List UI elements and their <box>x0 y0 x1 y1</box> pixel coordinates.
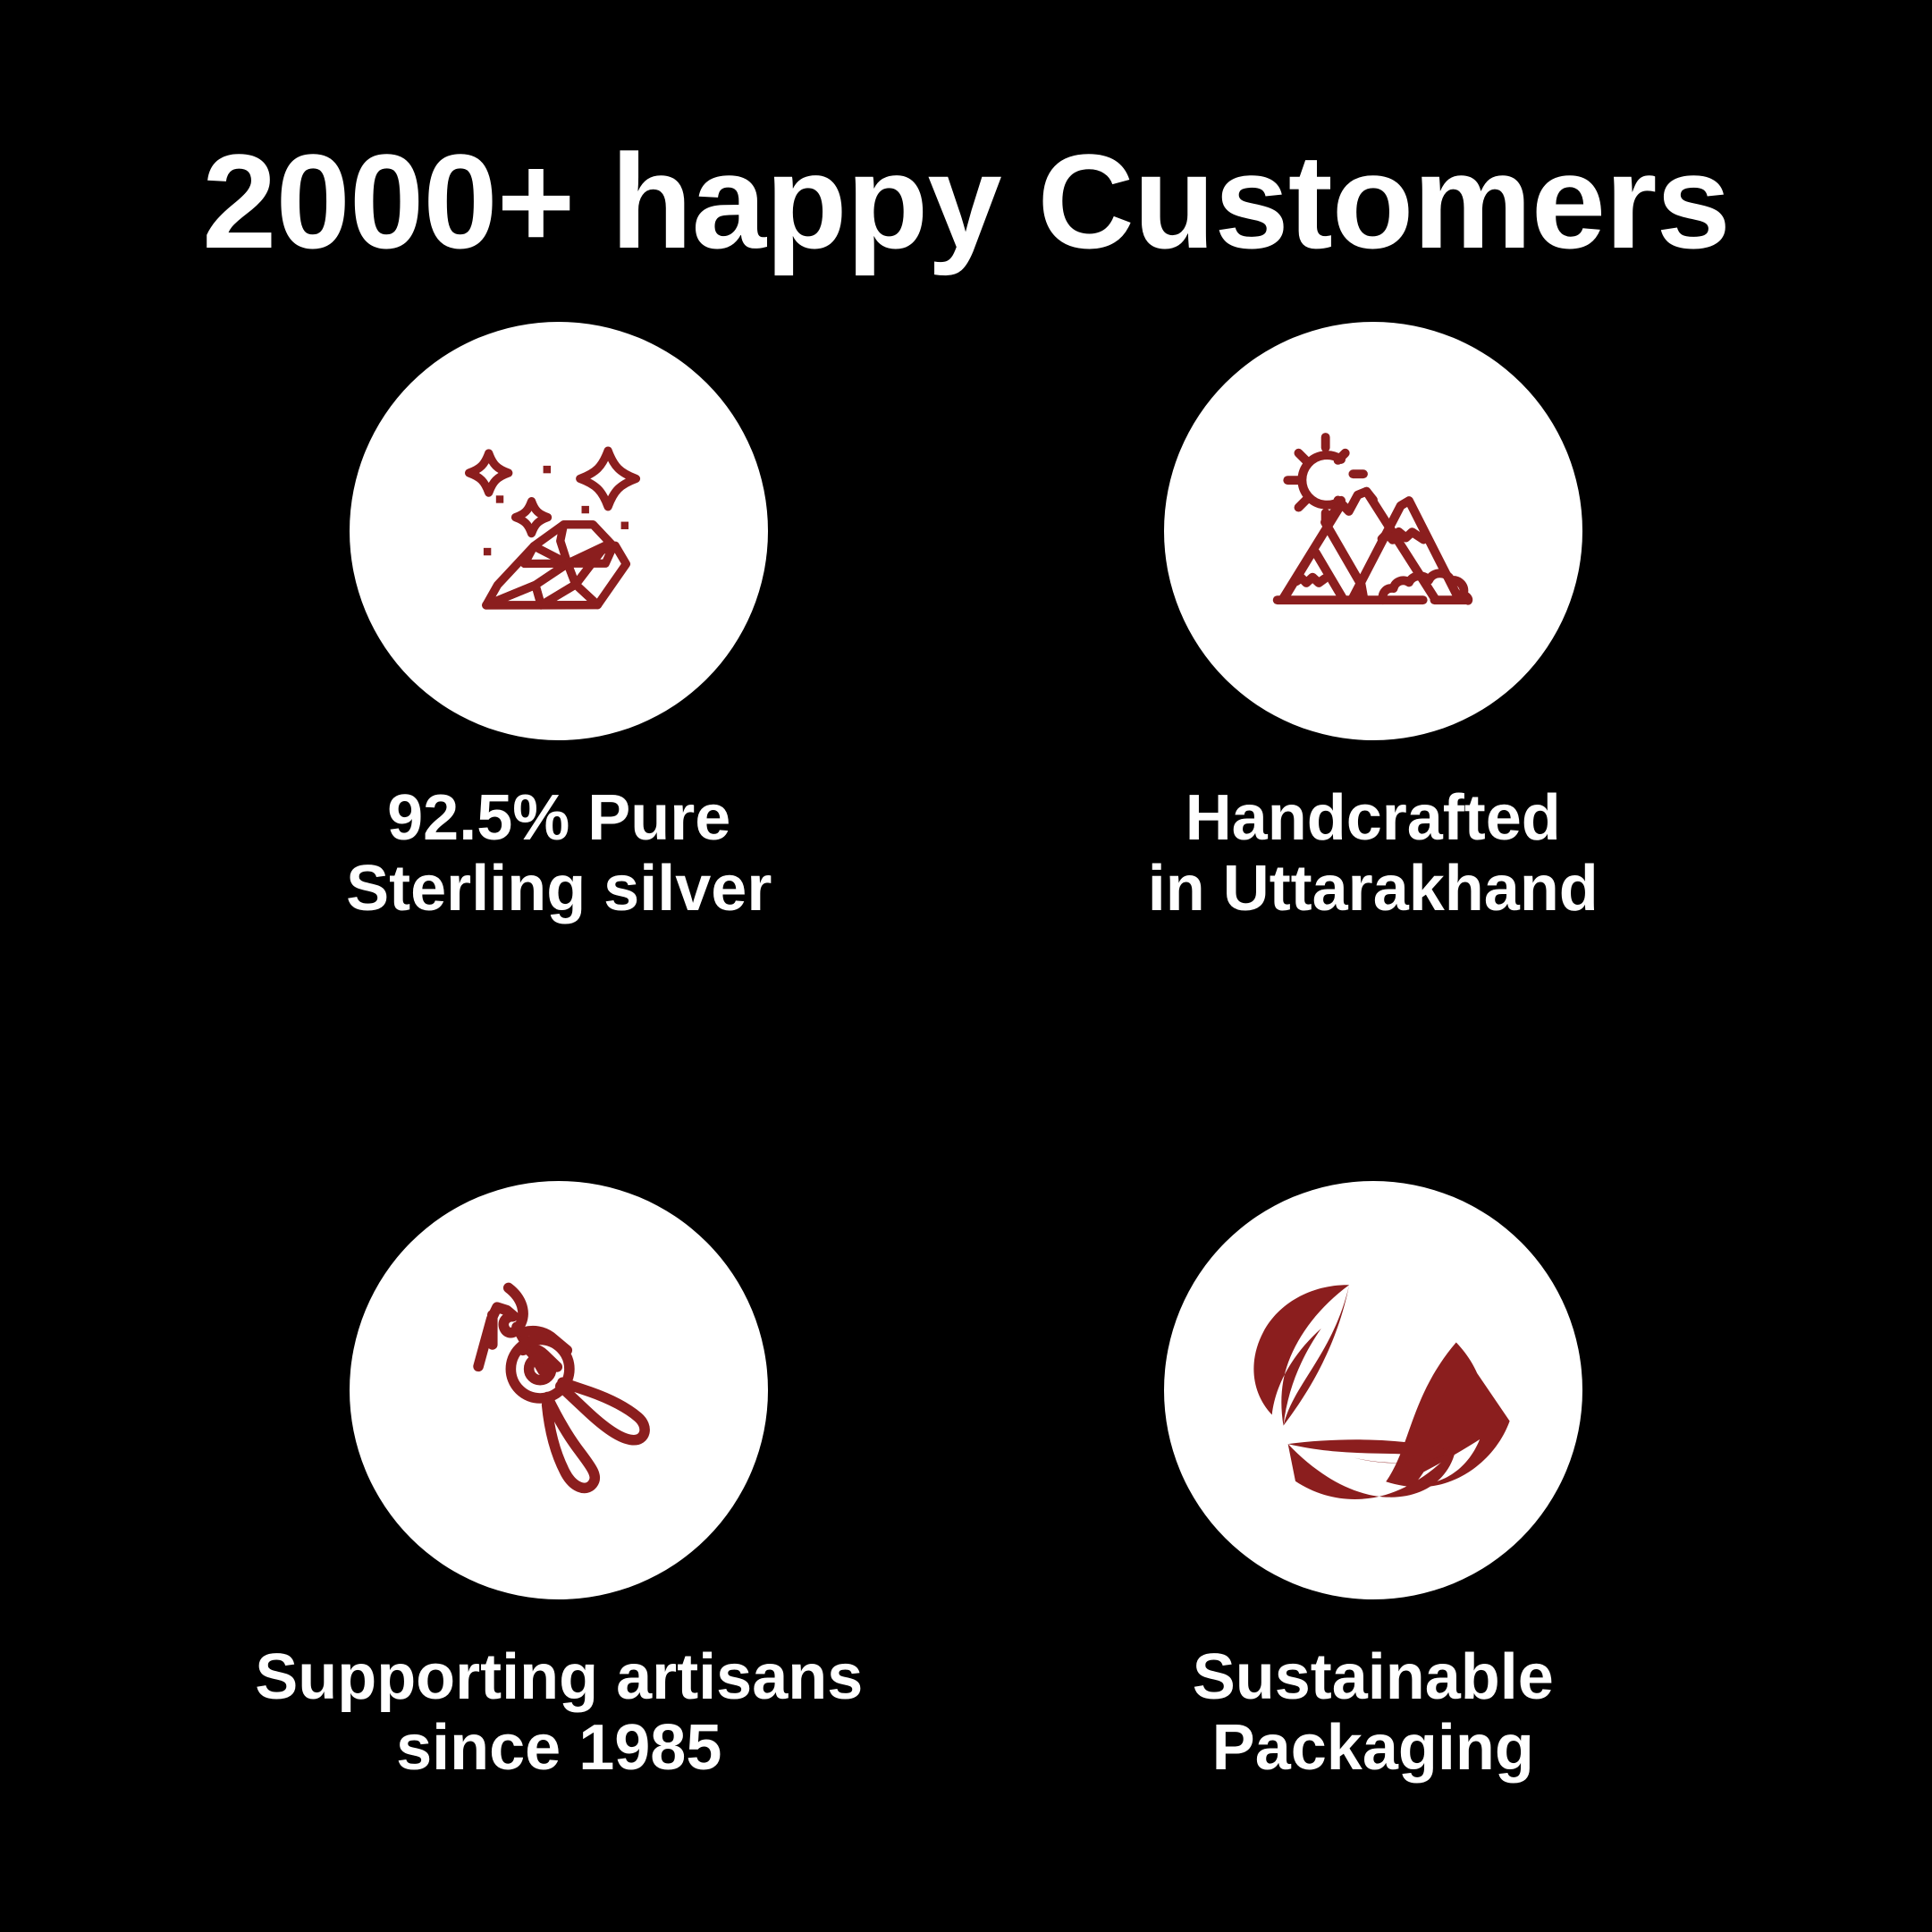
promo-card: 2000+ happy Customers <box>0 0 1932 1932</box>
page-title: 2000+ happy Customers <box>0 134 1932 268</box>
icon-badge-sterling-silver <box>350 322 768 740</box>
feature-caption: Sustainable Packaging <box>1193 1642 1554 1784</box>
feature-item-sterling-silver: 92.5% Pure Sterling silver <box>152 322 966 1127</box>
feature-item-artisans: Supporting artisans since 1985 <box>152 1181 966 1932</box>
feature-item-handcrafted: Handcrafted in Uttarakhand <box>966 322 1781 1127</box>
three-leaves-recycle-icon <box>1230 1247 1516 1533</box>
pliers-tool-icon <box>429 1261 688 1520</box>
feature-grid: 92.5% Pure Sterling silver <box>0 322 1932 1932</box>
feature-item-sustainable: Sustainable Packaging <box>966 1181 1781 1932</box>
feature-caption: Supporting artisans since 1985 <box>255 1642 863 1784</box>
icon-badge-handcrafted <box>1164 322 1582 740</box>
icon-badge-sustainable <box>1164 1181 1582 1599</box>
feature-caption: 92.5% Pure Sterling silver <box>346 783 772 924</box>
silver-bars-sparkle-icon <box>429 401 688 661</box>
feature-caption: Handcrafted in Uttarakhand <box>1148 783 1599 924</box>
icon-badge-artisans <box>350 1181 768 1599</box>
mountains-sun-icon <box>1244 401 1503 661</box>
